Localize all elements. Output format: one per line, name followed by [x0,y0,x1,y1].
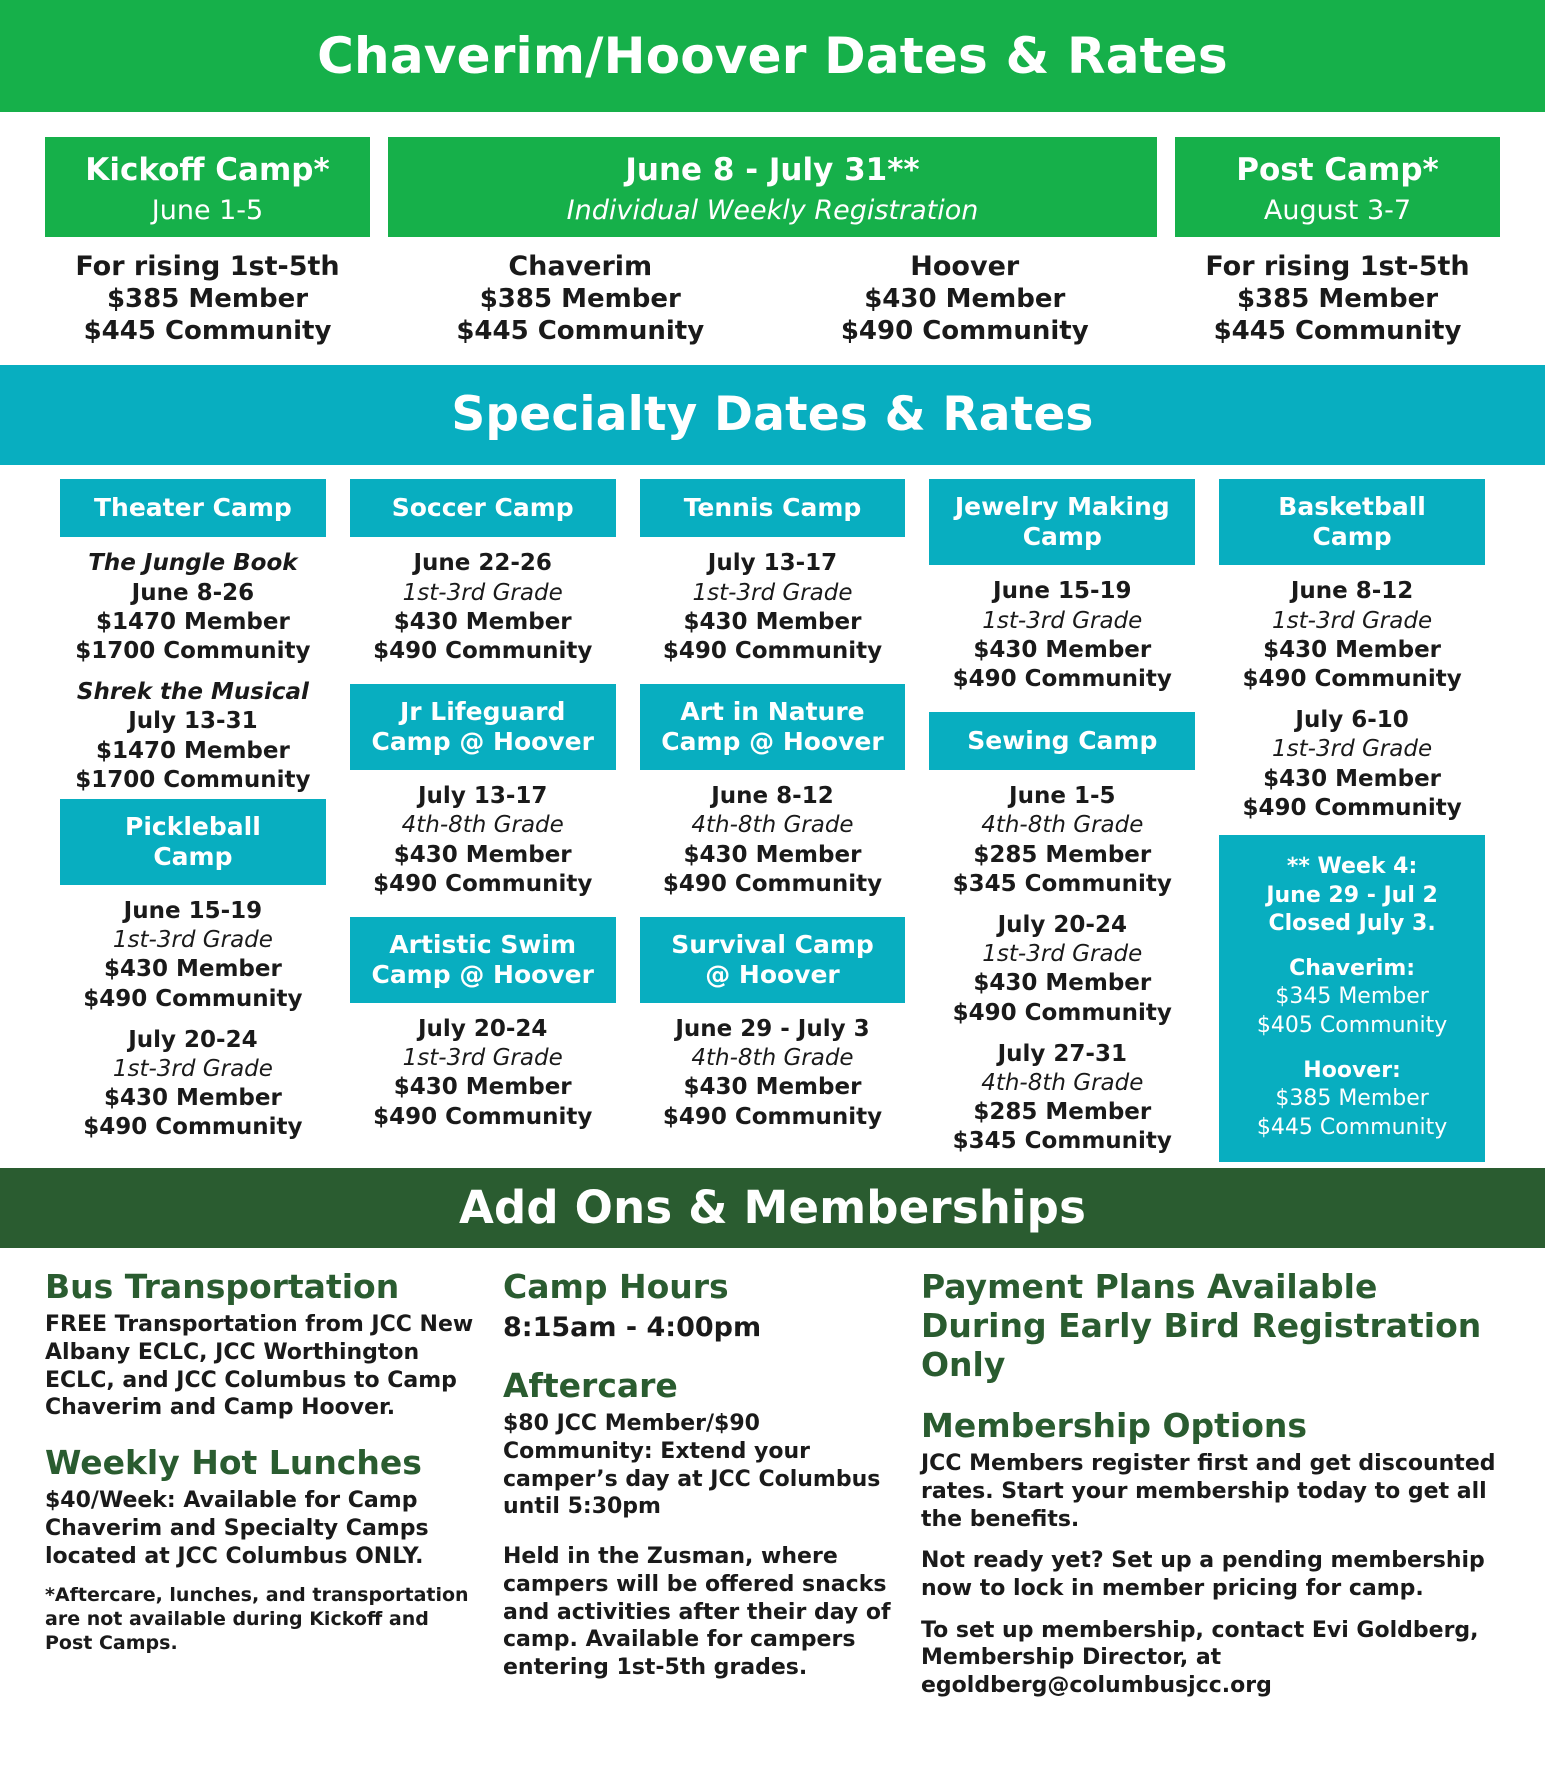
week4-line-1: ** Week 4: [1229,853,1475,882]
sewing-member-3: $285 Member [929,1098,1195,1127]
pickleball-grade-1: 1st-3rd Grade [60,926,326,955]
top-camp-row: Kickoff Camp* June 1-5 For rising 1st-5t… [45,137,1500,347]
weekly-hot-lunches-body: $40/Week: Available for Camp Chaverim an… [45,1487,475,1570]
pickleball-community-1: $490 Community [60,985,326,1014]
week4-hoover-group: Hoover: $385 Member $445 Community [1229,1057,1475,1143]
pickleball-member-2: $430 Member [60,1084,326,1113]
survival-community-1: $490 Community [640,1103,906,1132]
membership-body-1: JCC Members register first and get disco… [921,1450,1505,1533]
addons-column-membership: Payment Plans Available During Early Bir… [921,1268,1505,1714]
week4-chaverim-community: $405 Community [1229,1012,1475,1041]
camp-hours-body: 8:15am - 4:00pm [503,1311,893,1345]
specialty-title-banner: Specialty Dates & Rates [0,365,1545,465]
jewelry-community-1: $490 Community [929,665,1195,694]
summer-session-title: June 8 - July 31** [398,153,1147,189]
sewing-session-3: July 27-31 4th-8th Grade $285 Member $34… [929,1040,1195,1157]
art-in-nature-grade-1: 4th-8th Grade [640,811,906,840]
basketball-member-2: $430 Member [1219,765,1485,794]
survival-member-1: $430 Member [640,1073,906,1102]
jr-lifeguard-community-1: $490 Community [350,870,616,899]
survival-title-line2: @ Hoover [646,960,900,990]
sewing-camp-body: June 1-5 4th-8th Grade $285 Member $345 … [929,770,1195,1160]
week4-hoover-label: Hoover: [1229,1057,1475,1086]
week4-chaverim-label: Chaverim: [1229,955,1475,984]
summer-session-column: June 8 - July 31** Individual Weekly Reg… [388,137,1157,347]
theater-dates-2: July 13-31 [60,707,326,736]
specialty-column-1: Theater Camp The Jungle Book June 8-26 $… [60,479,326,1146]
chaverim-label: Chaverim [388,251,773,284]
sewing-member-1: $285 Member [929,841,1195,870]
addons-title-banner: Add Ons & Memberships [0,1168,1545,1248]
week4-chaverim-group: Chaverim: $345 Member $405 Community [1229,955,1475,1041]
specialty-column-3: Tennis Camp July 13-17 1st-3rd Grade $43… [640,479,906,1135]
specialty-column-2: Soccer Camp June 22-26 1st-3rd Grade $43… [350,479,616,1135]
artistic-swim-session-1: July 20-24 1st-3rd Grade $430 Member $49… [350,1015,616,1132]
main-title-banner: Chaverim/Hoover Dates & Rates [0,0,1545,112]
basketball-camp-body: June 8-12 1st-3rd Grade $430 Member $490… [1219,565,1485,827]
jewelry-session-1: June 15-19 1st-3rd Grade $430 Member $49… [929,577,1195,694]
kickoff-camp-dates: June 1-5 [55,193,360,228]
kickoff-community-rate: $445 Community [45,316,370,348]
tennis-member-1: $430 Member [640,608,906,637]
jewelry-camp-body: June 15-19 1st-3rd Grade $430 Member $49… [929,565,1195,698]
aftercare-body-2: Held in the Zusman, where campers will b… [503,1543,893,1682]
post-grades: For rising 1st-5th [1175,251,1500,284]
art-in-nature-community-1: $490 Community [640,870,906,899]
survival-camp-header: Survival Camp @ Hoover [640,917,906,1003]
camp-hours-heading: Camp Hours [503,1268,893,1307]
chaverim-member-rate: $385 Member [388,284,773,316]
theater-show-1: The Jungle Book [60,549,326,578]
art-in-nature-session-1: June 8-12 4th-8th Grade $430 Member $490… [640,782,906,899]
jewelry-title-line2: Camp [935,522,1189,552]
jewelry-grade-1: 1st-3rd Grade [929,607,1195,636]
addons-footnote: *Aftercare, lunches, and transportation … [45,1584,475,1656]
addons-section: Bus Transportation FREE Transportation f… [0,1248,1545,1724]
tennis-dates-1: July 13-17 [640,549,906,578]
addons-column-hours: Camp Hours 8:15am - 4:00pm Aftercare $80… [503,1268,893,1695]
theater-session-2: Shrek the Musical July 13-31 $1470 Membe… [60,678,326,795]
week4-hoover-community: $445 Community [1229,1114,1475,1143]
post-camp-dates: August 3-7 [1185,193,1490,228]
soccer-member-1: $430 Member [350,608,616,637]
survival-grade-1: 4th-8th Grade [640,1044,906,1073]
spacer [640,903,906,917]
theater-show-2: Shrek the Musical [60,678,326,707]
pickleball-dates-2: July 20-24 [60,1026,326,1055]
kickoff-camp-header: Kickoff Camp* June 1-5 [45,137,370,237]
soccer-camp-body: June 22-26 1st-3rd Grade $430 Member $49… [350,537,616,670]
post-member-rate: $385 Member [1175,284,1500,316]
theater-session-1: The Jungle Book June 8-26 $1470 Member $… [60,549,326,666]
post-camp-title: Post Camp* [1185,153,1490,189]
pickleball-member-1: $430 Member [60,955,326,984]
kickoff-camp-column: Kickoff Camp* June 1-5 For rising 1st-5t… [45,137,370,347]
sewing-session-1: June 1-5 4th-8th Grade $285 Member $345 … [929,782,1195,899]
artistic-swim-grade-1: 1st-3rd Grade [350,1044,616,1073]
survival-camp-body: June 29 - July 3 4th-8th Grade $430 Memb… [640,1003,906,1136]
pickleball-title-line2: Camp [66,842,320,872]
soccer-dates-1: June 22-26 [350,549,616,578]
art-in-nature-camp-body: June 8-12 4th-8th Grade $430 Member $490… [640,770,906,903]
week4-hoover-member: $385 Member [1229,1085,1475,1114]
kickoff-grades: For rising 1st-5th [45,251,370,284]
hoover-label: Hoover [773,251,1158,284]
sewing-session-2: July 20-24 1st-3rd Grade $430 Member $49… [929,911,1195,1028]
tennis-session-1: July 13-17 1st-3rd Grade $430 Member $49… [640,549,906,666]
membership-body-3: To set up membership, contact Evi Goldbe… [921,1617,1505,1700]
jr-lifeguard-title-line2: Camp @ Hoover [356,727,610,757]
pickleball-title-line1: Pickleball [66,812,320,842]
specialty-grid: Theater Camp The Jungle Book June 8-26 $… [60,479,1485,1162]
sewing-community-2: $490 Community [929,999,1195,1028]
basketball-dates-1: June 8-12 [1219,577,1485,606]
basketball-grade-1: 1st-3rd Grade [1219,607,1485,636]
specialty-camps-section: Theater Camp The Jungle Book June 8-26 $… [0,465,1545,1168]
art-in-nature-dates-1: June 8-12 [640,782,906,811]
jr-lifeguard-camp-header: Jr Lifeguard Camp @ Hoover [350,684,616,770]
basketball-camp-header: Basketball Camp [1219,479,1485,565]
theater-community-2: $1700 Community [60,766,326,795]
spacer [350,903,616,917]
soccer-community-1: $490 Community [350,637,616,666]
basketball-grade-2: 1st-3rd Grade [1219,735,1485,764]
soccer-camp-header: Soccer Camp [350,479,616,537]
theater-camp-header: Theater Camp [60,479,326,537]
summer-session-subtitle: Individual Weekly Registration [398,193,1147,228]
jewelry-dates-1: June 15-19 [929,577,1195,606]
sewing-member-2: $430 Member [929,969,1195,998]
jr-lifeguard-camp-body: July 13-17 4th-8th Grade $430 Member $49… [350,770,616,903]
sewing-community-3: $345 Community [929,1127,1195,1156]
artistic-swim-community-1: $490 Community [350,1103,616,1132]
addons-grid: Bus Transportation FREE Transportation f… [45,1268,1505,1714]
art-in-nature-title-line2: Camp @ Hoover [646,727,900,757]
spacer [929,698,1195,712]
artistic-swim-camp-body: July 20-24 1st-3rd Grade $430 Member $49… [350,1003,616,1136]
post-camp-header: Post Camp* August 3-7 [1175,137,1500,237]
basketball-title-line1: Basketball [1225,492,1479,522]
weekly-hot-lunches-heading: Weekly Hot Lunches [45,1444,475,1483]
sewing-dates-1: June 1-5 [929,782,1195,811]
specialty-column-5: Basketball Camp June 8-12 1st-3rd Grade … [1219,479,1485,1162]
jr-lifeguard-session-1: July 13-17 4th-8th Grade $430 Member $49… [350,782,616,899]
art-in-nature-camp-header: Art in Nature Camp @ Hoover [640,684,906,770]
sewing-camp-header: Sewing Camp [929,712,1195,770]
pickleball-grade-2: 1st-3rd Grade [60,1055,326,1084]
artistic-swim-title-line2: Camp @ Hoover [356,960,610,990]
survival-session-1: June 29 - July 3 4th-8th Grade $430 Memb… [640,1015,906,1132]
hoover-member-rate: $430 Member [773,284,1158,316]
art-in-nature-member-1: $430 Member [640,841,906,870]
sewing-dates-3: July 27-31 [929,1040,1195,1069]
jewelry-member-1: $430 Member [929,636,1195,665]
basketball-member-1: $430 Member [1219,636,1485,665]
week4-note-box: ** Week 4: June 29 - Jul 2 Closed July 3… [1219,835,1485,1162]
theater-member-1: $1470 Member [60,608,326,637]
summer-session-header: June 8 - July 31** Individual Weekly Reg… [388,137,1157,237]
survival-dates-1: June 29 - July 3 [640,1015,906,1044]
specialty-column-4: Jewelry Making Camp June 15-19 1st-3rd G… [929,479,1195,1160]
kickoff-camp-title: Kickoff Camp* [55,153,360,189]
post-camp-rates: For rising 1st-5th $385 Member $445 Comm… [1175,237,1500,347]
sewing-community-1: $345 Community [929,870,1195,899]
addons-column-transport: Bus Transportation FREE Transportation f… [45,1268,475,1670]
pickleball-community-2: $490 Community [60,1113,326,1142]
summer-rates-pair: Chaverim $385 Member $445 Community Hoov… [388,237,1157,347]
basketball-session-1: June 8-12 1st-3rd Grade $430 Member $490… [1219,577,1485,694]
tennis-community-1: $490 Community [640,637,906,666]
aftercare-heading: Aftercare [503,1367,893,1406]
theater-camp-body: The Jungle Book June 8-26 $1470 Member $… [60,537,326,799]
jr-lifeguard-dates-1: July 13-17 [350,782,616,811]
week4-line-2: June 29 - Jul 2 [1229,882,1475,911]
spacer [1219,827,1485,835]
basketball-dates-2: July 6-10 [1219,706,1485,735]
artistic-swim-dates-1: July 20-24 [350,1015,616,1044]
tennis-camp-header: Tennis Camp [640,479,906,537]
aftercare-body-1: $80 JCC Member/$90 Community: Extend you… [503,1410,893,1521]
basketball-community-1: $490 Community [1219,665,1485,694]
artistic-swim-member-1: $430 Member [350,1073,616,1102]
tennis-camp-body: July 13-17 1st-3rd Grade $430 Member $49… [640,537,906,670]
survival-title-line1: Survival Camp [646,930,900,960]
sewing-dates-2: July 20-24 [929,911,1195,940]
kickoff-member-rate: $385 Member [45,284,370,316]
soccer-grade-1: 1st-3rd Grade [350,579,616,608]
membership-body-2: Not ready yet? Set up a pending membersh… [921,1547,1505,1602]
theater-member-2: $1470 Member [60,737,326,766]
hoover-community-rate: $490 Community [773,316,1158,348]
chaverim-rates: Chaverim $385 Member $445 Community [388,237,773,347]
kickoff-camp-rates: For rising 1st-5th $385 Member $445 Comm… [45,237,370,347]
hoover-rates: Hoover $430 Member $490 Community [773,237,1158,347]
jewelry-camp-header: Jewelry Making Camp [929,479,1195,565]
theater-dates-1: June 8-26 [60,579,326,608]
art-in-nature-title-line1: Art in Nature [646,697,900,727]
membership-options-heading: Membership Options [921,1407,1505,1446]
pickleball-camp-header: Pickleball Camp [60,799,326,885]
post-community-rate: $445 Community [1175,316,1500,348]
sewing-grade-3: 4th-8th Grade [929,1069,1195,1098]
sewing-grade-2: 1st-3rd Grade [929,940,1195,969]
pickleball-session-1: June 15-19 1st-3rd Grade $430 Member $49… [60,897,326,1014]
bus-transportation-body: FREE Transportation from JCC New Albany … [45,1311,475,1422]
jr-lifeguard-grade-1: 4th-8th Grade [350,811,616,840]
spacer [640,670,906,684]
soccer-session-1: June 22-26 1st-3rd Grade $430 Member $49… [350,549,616,666]
payment-plans-heading: Payment Plans Available During Early Bir… [921,1268,1505,1385]
jr-lifeguard-title-line1: Jr Lifeguard [356,697,610,727]
pickleball-camp-body: June 15-19 1st-3rd Grade $430 Member $49… [60,885,326,1147]
post-camp-column: Post Camp* August 3-7 For rising 1st-5th… [1175,137,1500,347]
week4-line-3: Closed July 3. [1229,910,1475,939]
chaverim-hoover-section: Kickoff Camp* June 1-5 For rising 1st-5t… [0,112,1545,365]
bus-transportation-heading: Bus Transportation [45,1268,475,1307]
theater-community-1: $1700 Community [60,637,326,666]
basketball-community-2: $490 Community [1219,794,1485,823]
jr-lifeguard-member-1: $430 Member [350,841,616,870]
sewing-grade-1: 4th-8th Grade [929,811,1195,840]
artistic-swim-camp-header: Artistic Swim Camp @ Hoover [350,917,616,1003]
artistic-swim-title-line1: Artistic Swim [356,930,610,960]
week4-chaverim-member: $345 Member [1229,983,1475,1012]
pickleball-session-2: July 20-24 1st-3rd Grade $430 Member $49… [60,1026,326,1143]
spacer [350,670,616,684]
jewelry-title-line1: Jewelry Making [935,492,1189,522]
pickleball-dates-1: June 15-19 [60,897,326,926]
basketball-title-line2: Camp [1225,522,1479,552]
basketball-session-2: July 6-10 1st-3rd Grade $430 Member $490… [1219,706,1485,823]
chaverim-community-rate: $445 Community [388,316,773,348]
tennis-grade-1: 1st-3rd Grade [640,579,906,608]
